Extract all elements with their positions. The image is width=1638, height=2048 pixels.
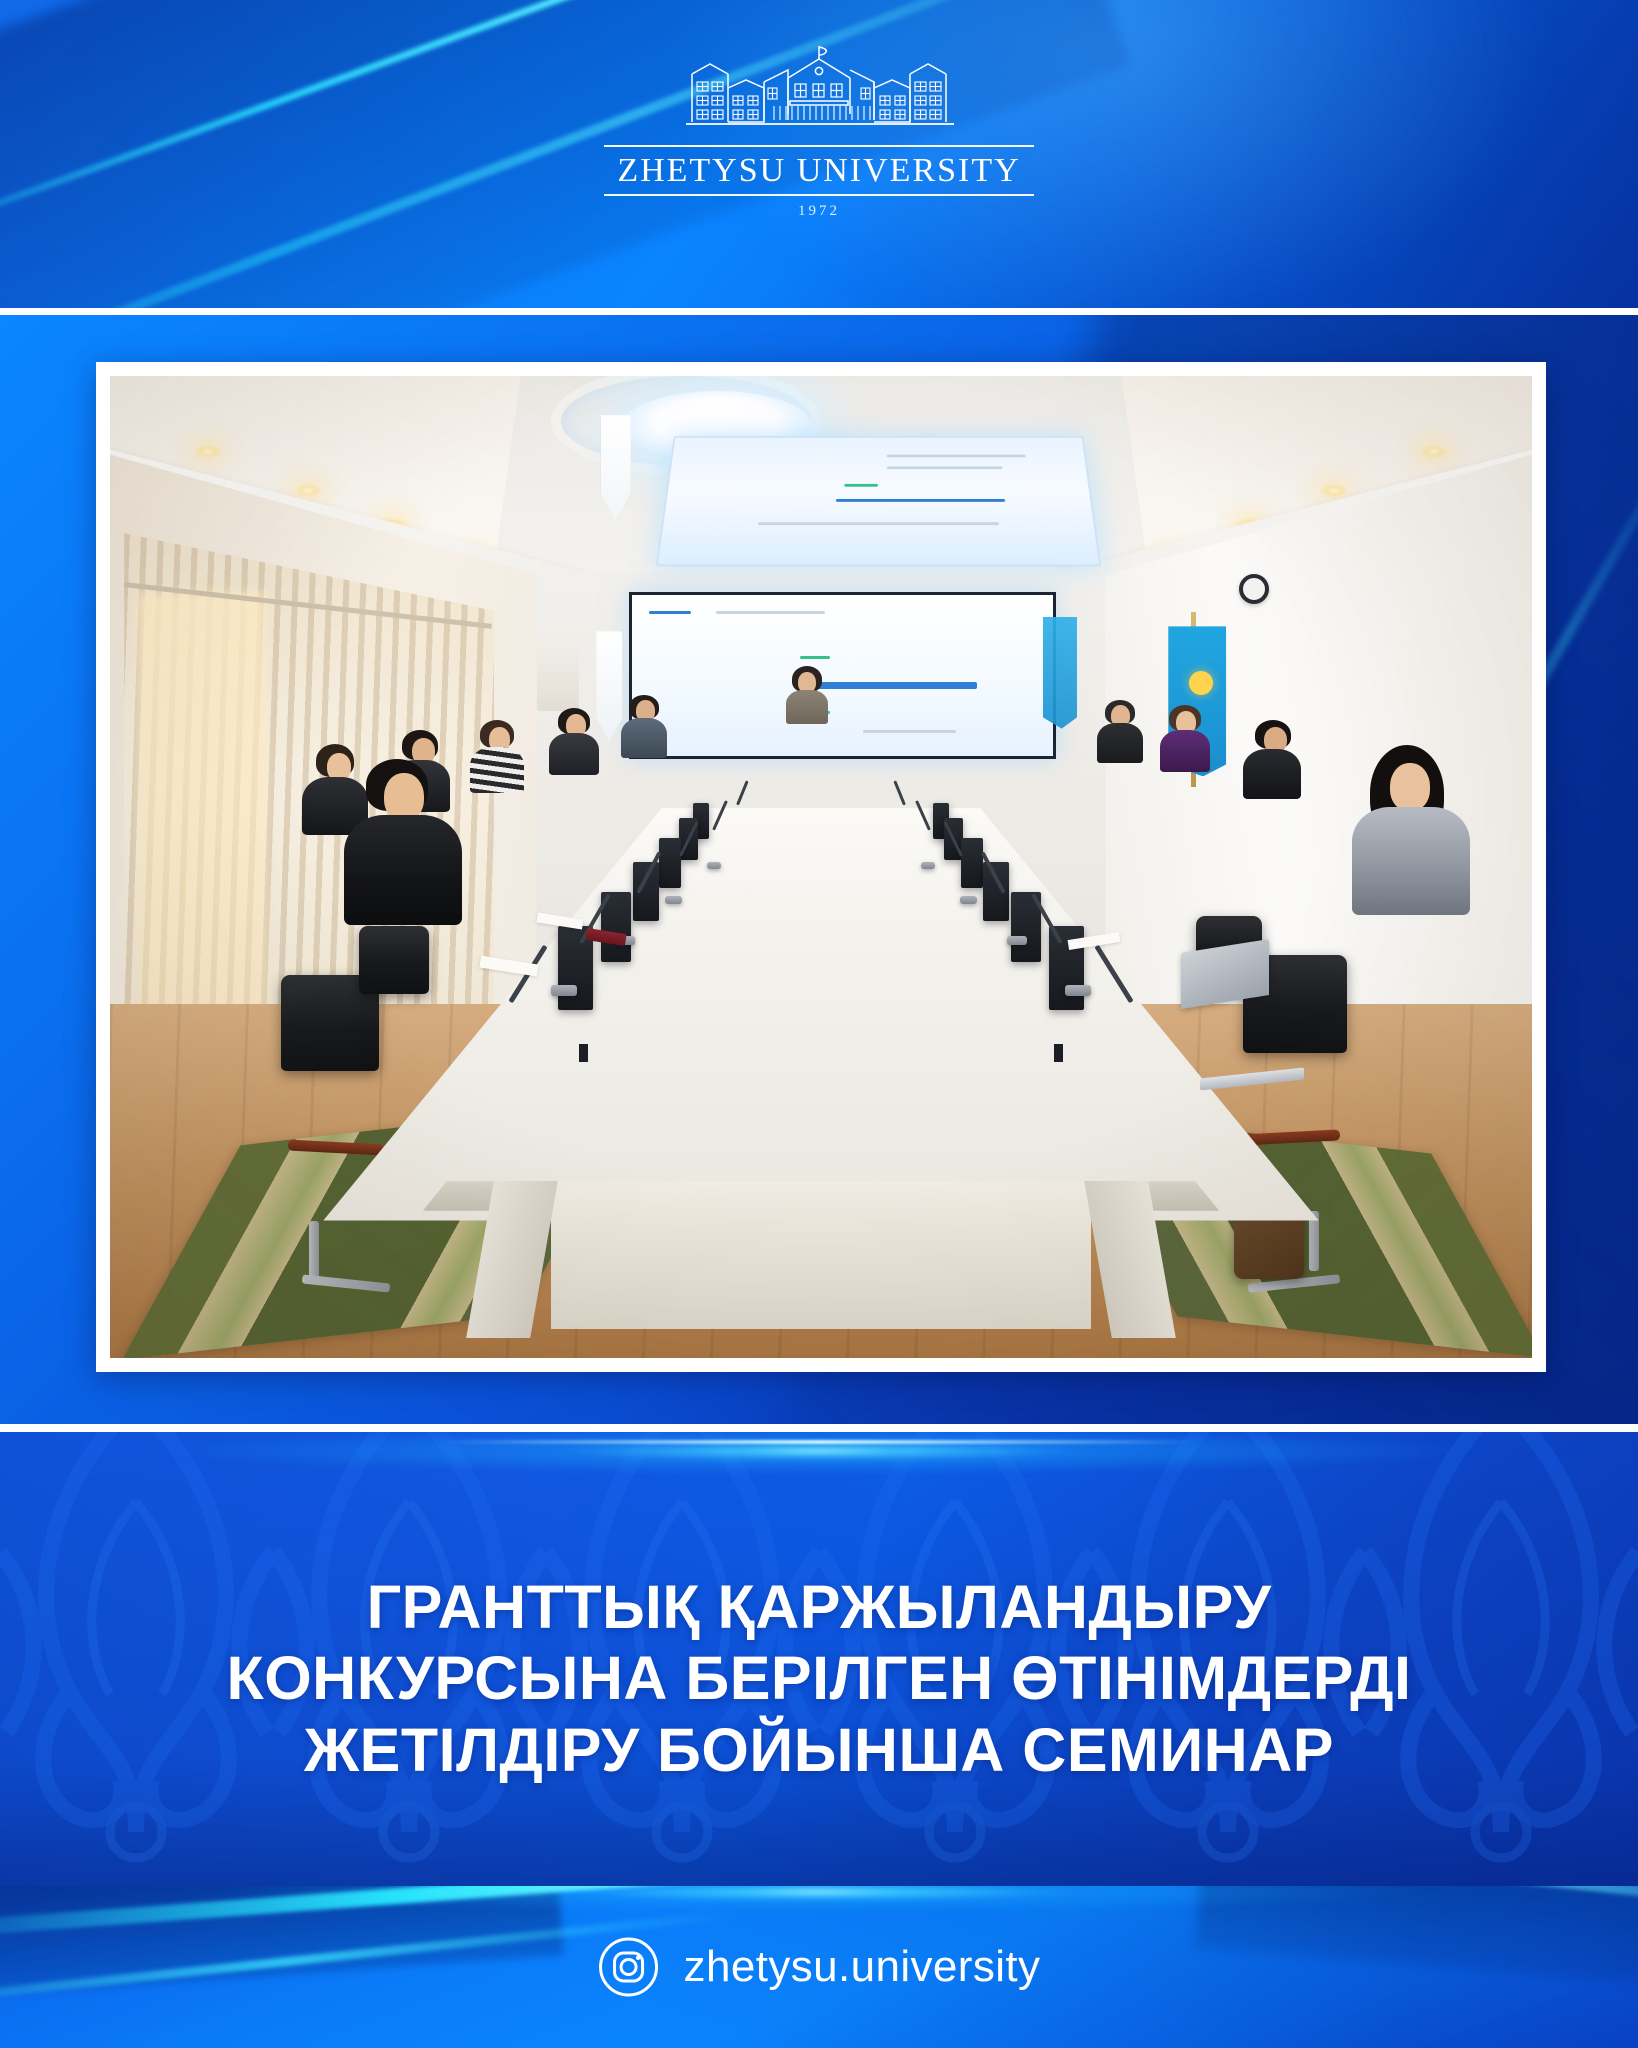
title-line-3: ЖЕТІЛДІРУ БОЙЫНША СЕМИНАР [89,1715,1549,1786]
handle-text[interactable]: zhetysu.university [684,1945,1041,1989]
light-flare [169,1432,1469,1474]
light-flare-core [439,1440,1199,1444]
top-divider [0,308,1638,315]
photo-frame [96,362,1546,1372]
title-line-2: КОНКУРСЫНА БЕРІЛГЕН ӨТІНІМДЕРДІ [89,1643,1549,1714]
footer-band: zhetysu.university [0,1886,1638,2048]
title-line-1: ГРАНТТЫҚ ҚАРЖЫЛАНДЫРУ [89,1572,1549,1643]
mid-divider [0,1424,1638,1432]
photo-stage [0,315,1638,1427]
university-name: ZHETYSU UNIVERSITY [604,145,1034,196]
poster-root: ZHETYSU UNIVERSITY 1972 [0,0,1638,2048]
header-band: ZHETYSU UNIVERSITY 1972 [0,0,1638,314]
social-handle[interactable]: zhetysu.university [598,1936,1041,1998]
ceiling-projection-screen [655,436,1101,567]
poster-title: ГРАНТТЫҚ ҚАРЖЫЛАНДЫРУ КОНКУРСЫНА БЕРІЛГЕ… [89,1572,1549,1786]
kazakhstan-flag [1043,617,1077,729]
founded-year: 1972 [604,203,1034,220]
instagram-icon[interactable] [598,1936,660,1998]
projection-screen [629,592,1056,759]
university-logo: ZHETYSU UNIVERSITY 1972 [604,44,1034,220]
office-chair [359,926,429,994]
university-building-line-art-icon [604,44,1034,136]
light-streak [0,315,41,472]
title-band: ГРАНТТЫҚ ҚАРЖЫЛАНДЫРУ КОНКУРСЫНА БЕРІЛГЕ… [0,1432,1638,1886]
conference-room-seminar-photo [110,376,1532,1358]
